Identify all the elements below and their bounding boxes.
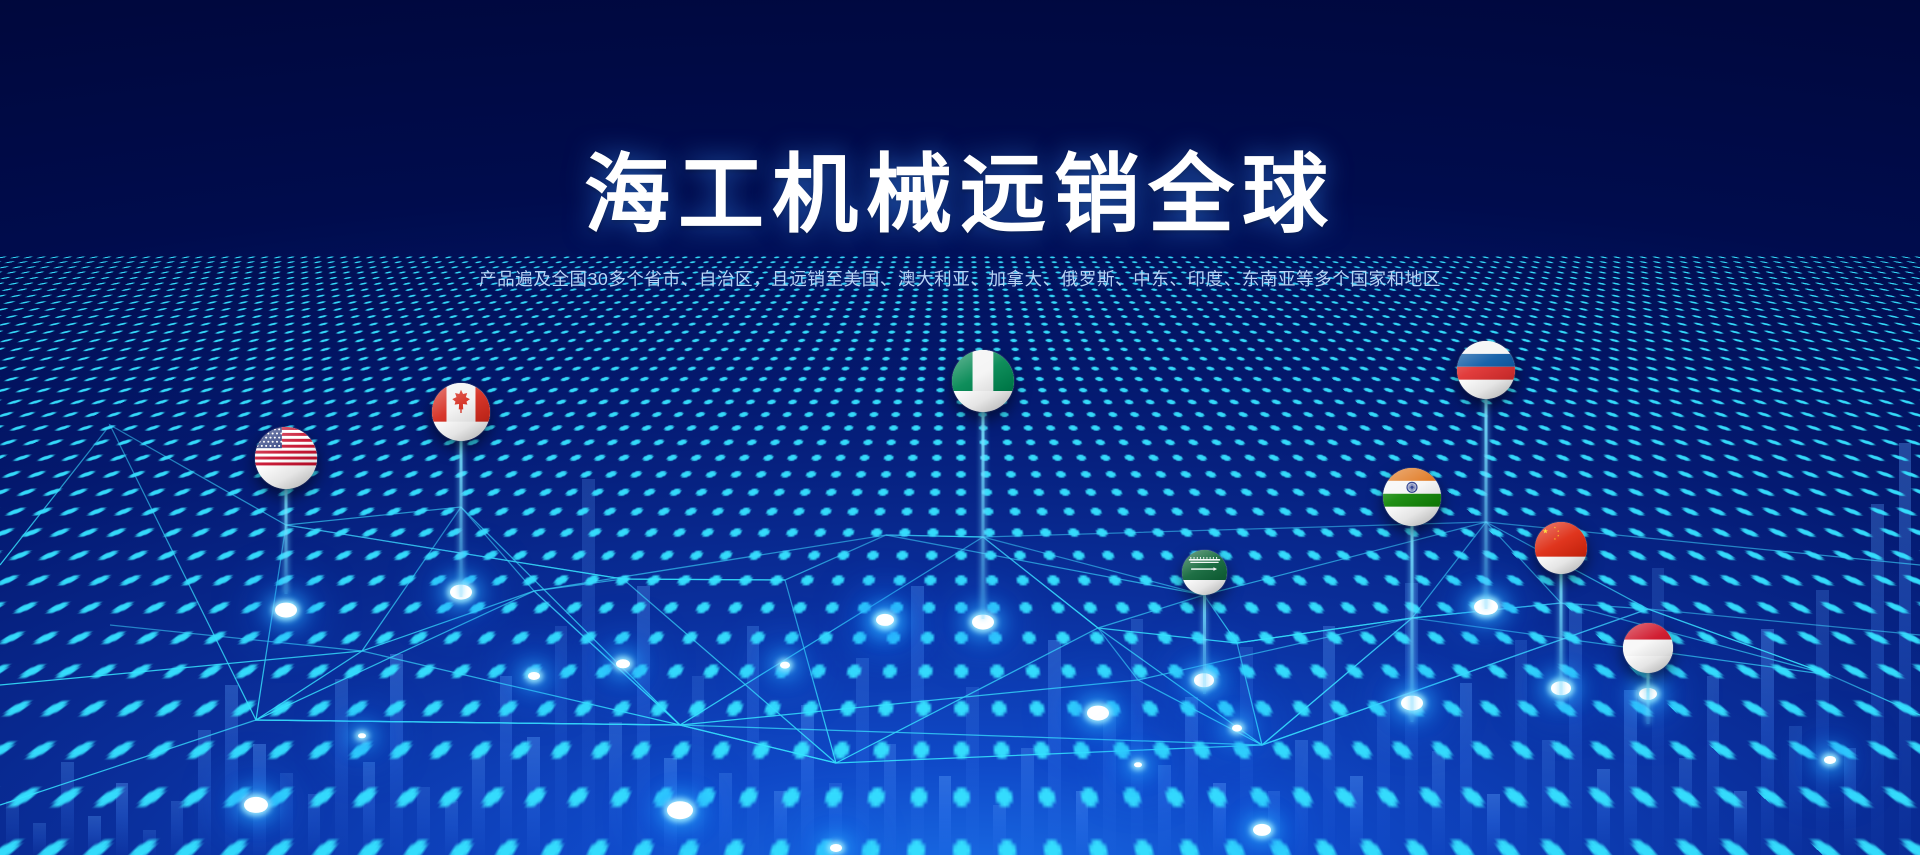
page-subtitle: 产品遍及全国30多个省市、自治区，且远销至美国、澳大利亚、加拿大、俄罗斯、中东、…: [0, 266, 1920, 291]
network-node: [780, 662, 790, 669]
pin-stem: [1485, 389, 1488, 609]
cn-flag-icon[interactable]: [1535, 522, 1587, 574]
pin-stem: [1203, 586, 1206, 694]
headline-block: 海工机械远销全球 产品遍及全国30多个省市、自治区，且远销至美国、澳大利亚、加拿…: [0, 150, 1920, 291]
network-node: [830, 844, 842, 852]
pin-stem: [1560, 565, 1563, 705]
country-pin-united-states[interactable]: [255, 427, 317, 605]
us-flag-icon[interactable]: [255, 427, 317, 489]
network-node: [1232, 725, 1242, 732]
country-pin-russia[interactable]: [1457, 341, 1515, 619]
in-flag-icon[interactable]: [1383, 468, 1441, 526]
pin-stem: [1411, 516, 1414, 722]
sa-flag-icon[interactable]: [1182, 550, 1227, 595]
network-node: [667, 801, 693, 819]
country-pin-saudi-arabia[interactable]: [1182, 550, 1227, 703]
pin-stem: [982, 401, 985, 619]
ng-flag-icon[interactable]: [952, 350, 1014, 412]
pin-stem: [460, 431, 463, 597]
network-node: [528, 672, 540, 680]
country-pin-china[interactable]: [1535, 522, 1587, 714]
id-flag-icon[interactable]: [1623, 623, 1673, 673]
country-pin-india[interactable]: [1383, 468, 1441, 732]
network-node: [1087, 706, 1109, 721]
country-pin-indonesia[interactable]: [1623, 623, 1673, 733]
network-node: [876, 614, 894, 626]
network-node: [1824, 756, 1836, 764]
global-sales-banner: 海工机械远销全球 产品遍及全国30多个省市、自治区，且远销至美国、澳大利亚、加拿…: [0, 0, 1920, 855]
pin-stem: [1647, 664, 1650, 724]
country-pin-nigeria[interactable]: [952, 350, 1014, 630]
page-title: 海工机械远销全球: [0, 150, 1920, 240]
network-node: [1253, 824, 1271, 836]
ru-flag-icon[interactable]: [1457, 341, 1515, 399]
pin-stem: [285, 478, 288, 594]
ca-flag-icon[interactable]: [432, 383, 490, 441]
country-pin-canada[interactable]: [432, 383, 490, 607]
